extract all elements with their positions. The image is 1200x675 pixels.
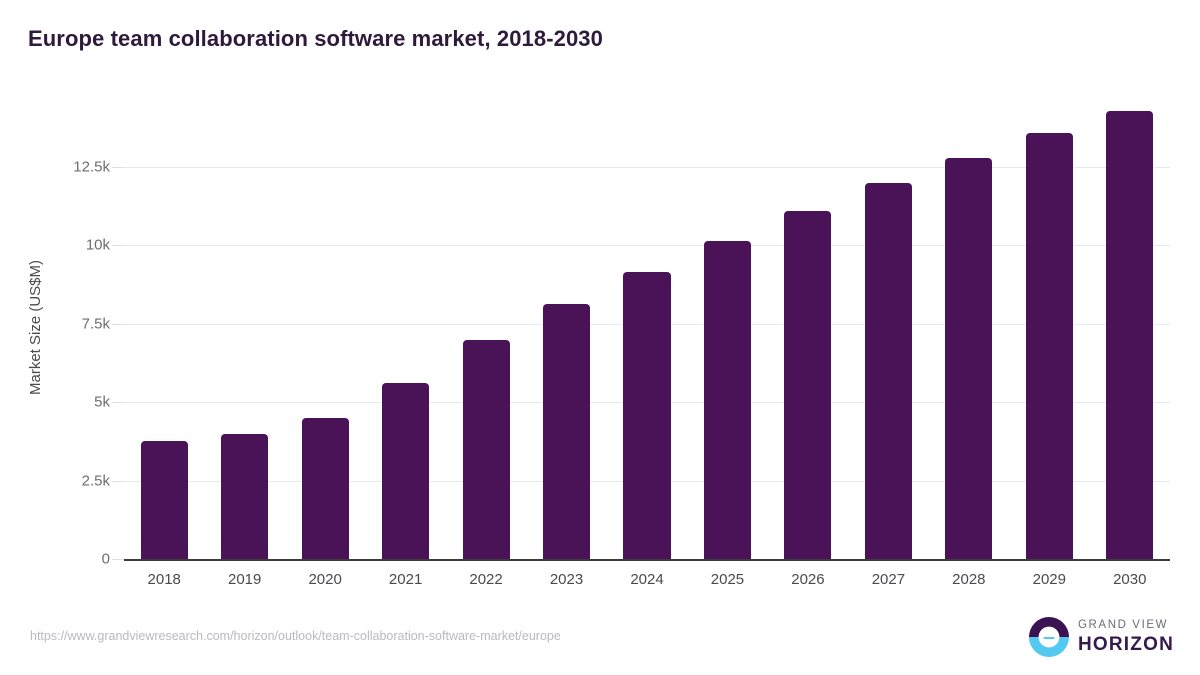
y-tick-label: 0 (0, 551, 110, 568)
bar-group[interactable] (1026, 95, 1073, 559)
grand-view-horizon-logo-icon (1029, 617, 1069, 657)
y-tick-label: 10k (0, 237, 110, 254)
bar-series (124, 95, 1170, 559)
bar-group[interactable] (141, 95, 188, 559)
y-tick-label: 5k (0, 394, 110, 411)
y-tick-mark (112, 324, 124, 325)
bar[interactable] (865, 183, 912, 559)
bar-group[interactable] (784, 95, 831, 559)
logo-bottom-text: HORIZON (1078, 635, 1174, 654)
logo-text: GRAND VIEW HORIZON (1078, 620, 1174, 654)
bar[interactable] (382, 383, 429, 559)
y-tick-mark (112, 245, 124, 246)
bar-group[interactable] (221, 95, 268, 559)
x-tick-label: 2029 (1033, 571, 1066, 588)
x-tick-label: 2021 (389, 571, 422, 588)
bar[interactable] (141, 441, 188, 559)
bar-group[interactable] (463, 95, 510, 559)
bar[interactable] (704, 241, 751, 559)
bar-group[interactable] (704, 95, 751, 559)
bar[interactable] (623, 272, 670, 559)
y-tick-label: 2.5k (0, 472, 110, 489)
y-tick-label: 12.5k (0, 159, 110, 176)
axis-baseline (124, 559, 1170, 561)
bar-group[interactable] (543, 95, 590, 559)
x-tick-label: 2018 (148, 571, 181, 588)
x-tick-label: 2023 (550, 571, 583, 588)
bar[interactable] (302, 418, 349, 559)
bar[interactable] (463, 340, 510, 559)
logo-top-text: GRAND VIEW (1078, 620, 1174, 632)
x-tick-label: 2026 (791, 571, 824, 588)
bar-group[interactable] (865, 95, 912, 559)
bar-group[interactable] (302, 95, 349, 559)
y-tick-mark (112, 481, 124, 482)
x-tick-label: 2024 (630, 571, 663, 588)
x-tick-label: 2020 (308, 571, 341, 588)
x-tick-label: 2030 (1113, 571, 1146, 588)
y-tick-label: 7.5k (0, 315, 110, 332)
y-tick-mark (112, 402, 124, 403)
bar[interactable] (221, 434, 268, 559)
y-tick-mark (112, 559, 124, 560)
bar-group[interactable] (382, 95, 429, 559)
bar[interactable] (945, 158, 992, 559)
bar-group[interactable] (945, 95, 992, 559)
brand-logo: GRAND VIEW HORIZON (1029, 617, 1174, 657)
bar[interactable] (784, 211, 831, 559)
x-tick-label: 2027 (872, 571, 905, 588)
bar[interactable] (1026, 133, 1073, 559)
plot-area: 02.5k5k7.5k10k12.5k (124, 95, 1170, 559)
x-axis: 2018201920202021202220232024202520262027… (124, 563, 1170, 593)
bar-group[interactable] (1106, 95, 1153, 559)
bar-group[interactable] (623, 95, 670, 559)
x-tick-label: 2025 (711, 571, 744, 588)
source-url: https://www.grandviewresearch.com/horizo… (30, 629, 561, 643)
chart-page: Europe team collaboration software marke… (0, 0, 1200, 675)
x-tick-label: 2022 (469, 571, 502, 588)
page-title: Europe team collaboration software marke… (28, 26, 603, 52)
bar[interactable] (1106, 111, 1153, 559)
y-tick-mark (112, 167, 124, 168)
x-tick-label: 2028 (952, 571, 985, 588)
bar[interactable] (543, 304, 590, 560)
x-tick-label: 2019 (228, 571, 261, 588)
